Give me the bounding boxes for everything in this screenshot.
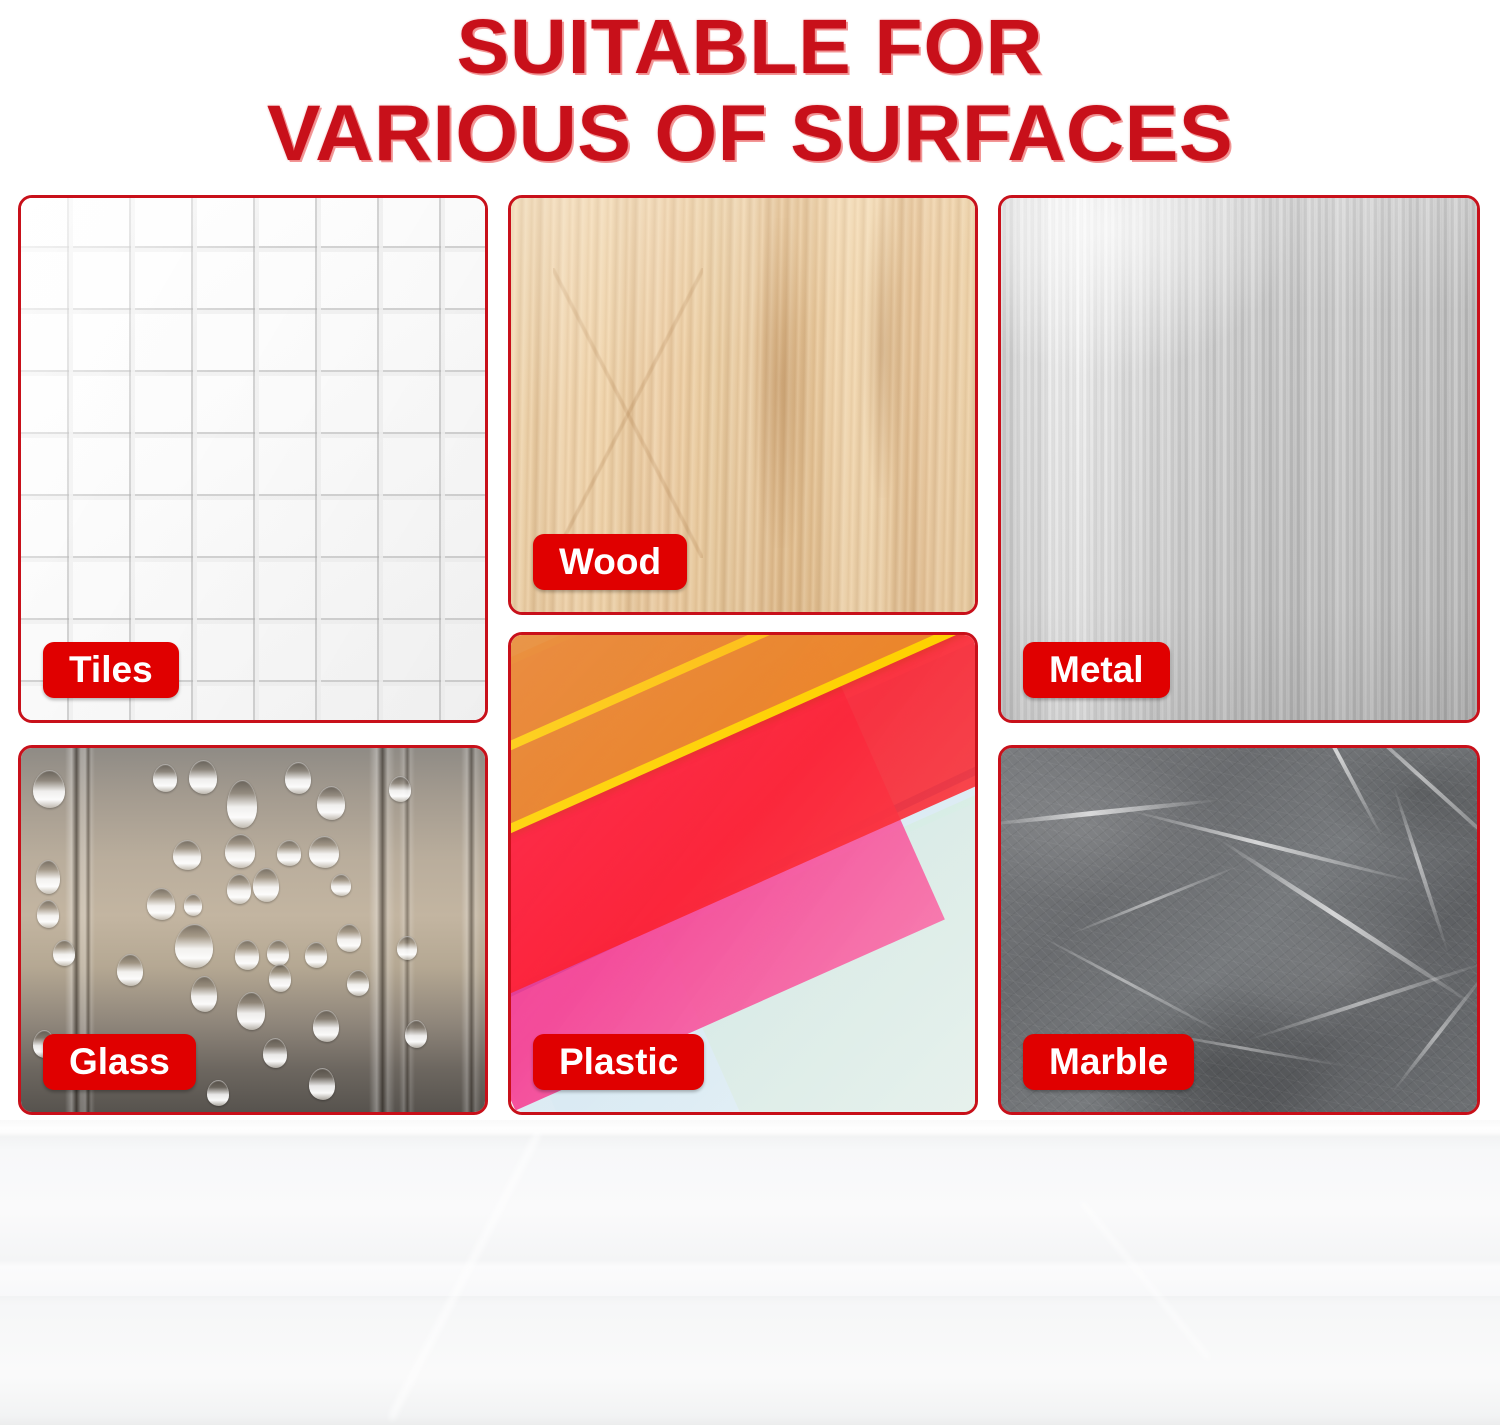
water-droplet <box>225 834 255 868</box>
water-droplet <box>53 940 75 966</box>
surface-label-plastic: Plastic <box>533 1034 704 1090</box>
surface-card-marble: Marble <box>998 745 1480 1115</box>
water-droplet <box>305 942 327 968</box>
water-droplet <box>389 776 411 802</box>
glass-streak-5 <box>461 748 481 1112</box>
surface-card-wood: Wood <box>508 195 978 615</box>
surface-label-metal: Metal <box>1023 642 1170 698</box>
water-droplet <box>331 874 351 896</box>
headline-line-1: SUITABLE FOR <box>0 4 1500 90</box>
water-droplet <box>397 936 417 960</box>
surface-highlight-2 <box>1080 1200 1210 1360</box>
surface-highlight-1 <box>390 1130 540 1420</box>
surface-label-glass: Glass <box>43 1034 196 1090</box>
water-droplet <box>285 762 311 794</box>
product-infographic: SUITABLE FOR VARIOUS OF SURFACES Tiles W… <box>0 0 1500 1425</box>
water-droplet <box>33 770 65 808</box>
water-droplet <box>173 840 201 870</box>
surface-edge-band-top <box>0 1120 1500 1128</box>
surface-card-glass: Glass <box>18 745 488 1115</box>
water-droplet <box>337 924 361 952</box>
water-droplet <box>189 760 217 794</box>
surface-label-marble: Marble <box>1023 1034 1194 1090</box>
water-droplet <box>36 860 60 894</box>
water-droplet <box>237 992 265 1030</box>
glass-streak-3 <box>369 748 395 1112</box>
water-droplet <box>347 970 369 996</box>
water-droplet <box>253 868 279 902</box>
water-droplet <box>267 940 289 966</box>
water-droplet <box>207 1080 229 1106</box>
water-droplet <box>269 964 291 992</box>
surface-edge-band-mid <box>0 1296 1500 1306</box>
water-droplet <box>227 874 251 904</box>
water-droplet <box>263 1038 287 1068</box>
water-droplet <box>184 894 202 916</box>
water-droplet <box>191 976 217 1012</box>
headline-line-2: VARIOUS OF SURFACES <box>0 90 1500 176</box>
water-droplet <box>235 940 259 970</box>
water-droplet <box>117 954 143 986</box>
surface-label-wood: Wood <box>533 534 687 590</box>
page-title: SUITABLE FOR VARIOUS OF SURFACES <box>0 0 1500 178</box>
water-droplet <box>309 1068 335 1100</box>
surface-label-tiles: Tiles <box>43 642 179 698</box>
water-droplet <box>227 780 257 828</box>
bottom-countertop-surface <box>0 1120 1500 1425</box>
water-droplet <box>309 836 339 868</box>
surface-card-metal: Metal <box>998 195 1480 723</box>
water-droplet <box>175 924 213 968</box>
water-droplet <box>405 1020 427 1048</box>
surface-card-tiles: Tiles <box>18 195 488 723</box>
water-droplet <box>317 786 345 820</box>
water-droplet <box>37 900 59 928</box>
glass-streak-4 <box>399 748 415 1112</box>
water-droplet <box>153 764 177 792</box>
water-droplet <box>147 888 175 920</box>
water-droplet <box>313 1010 339 1042</box>
surface-card-plastic: Plastic <box>508 632 978 1115</box>
water-droplet <box>277 840 301 866</box>
